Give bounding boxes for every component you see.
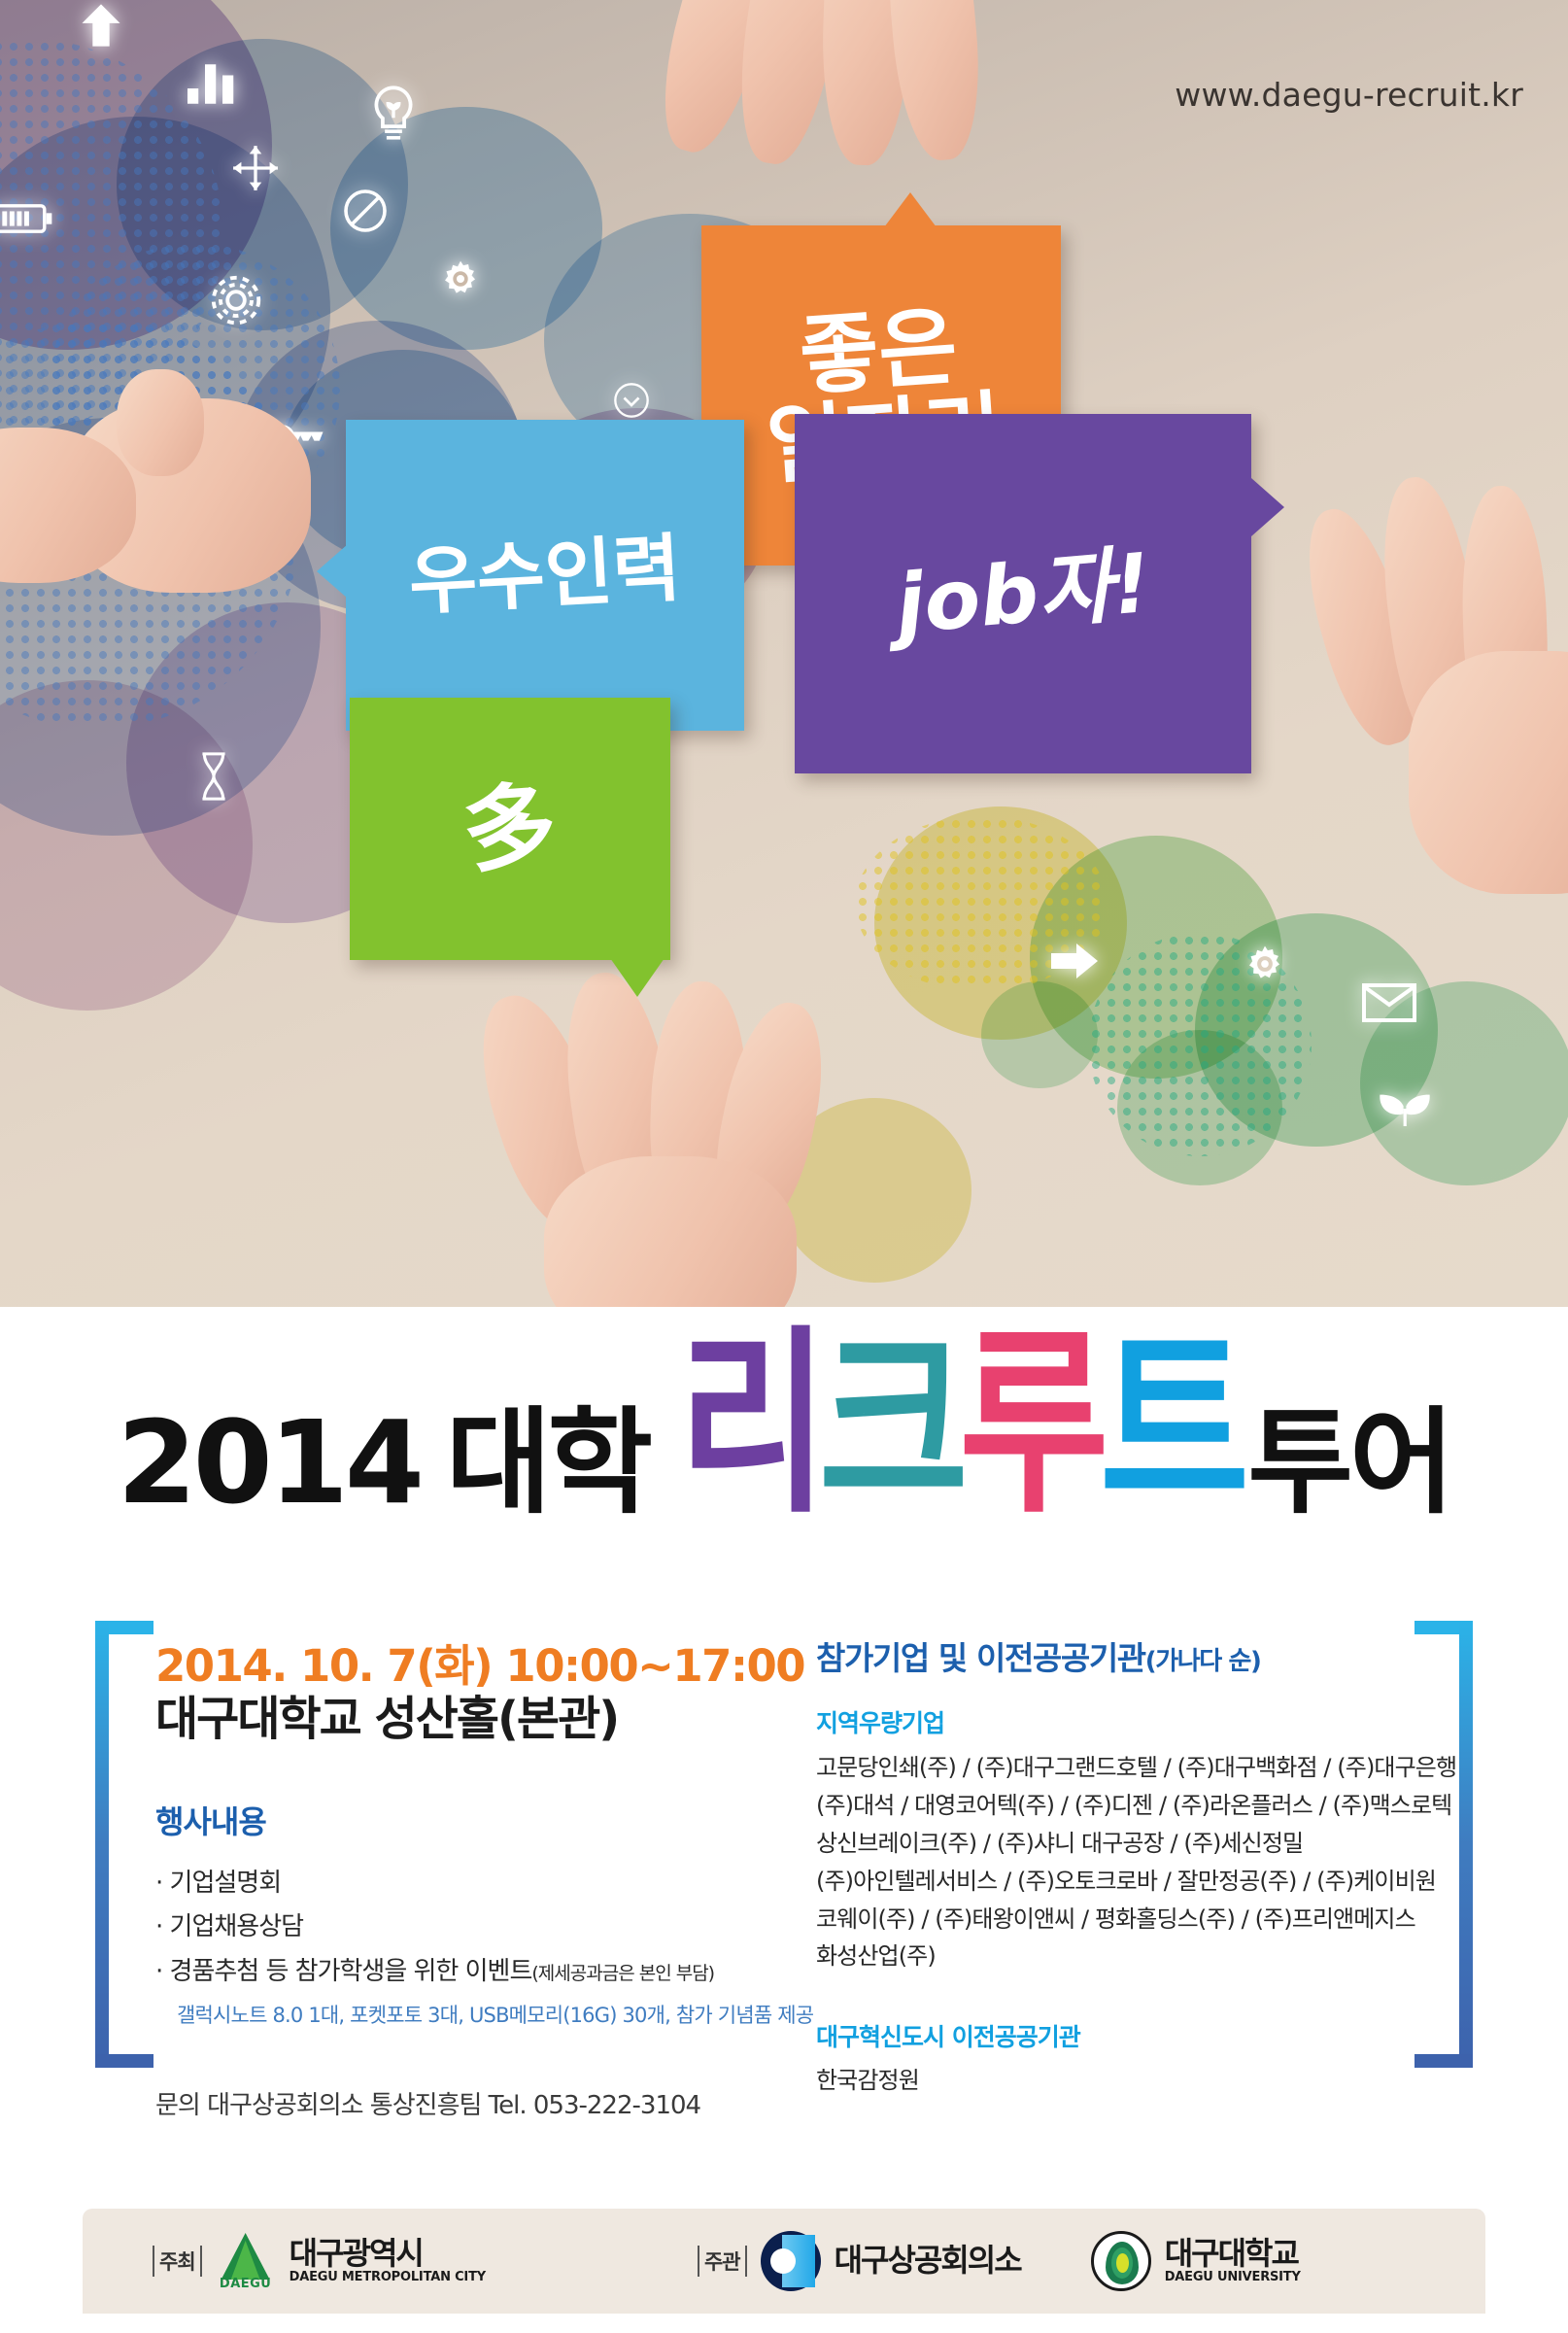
host-name: 대구광역시 DAEGU METROPOLITAN CITY	[290, 2238, 486, 2283]
public-institutions-heading: 대구혁신도시 이전공공기관	[816, 2018, 1418, 2053]
organizer-label: 주관	[698, 2246, 747, 2277]
poster-title: 2014 대학 리 크 루 트 투어	[0, 1360, 1568, 1524]
daegu-university-logo-icon	[1091, 2231, 1151, 2291]
title-logo-teu: 트	[1100, 1324, 1241, 1524]
move-arrows-icon	[231, 144, 280, 192]
chevron-down-icon	[612, 381, 651, 420]
organizer-group: 주관 대구상공회의소	[698, 2231, 1021, 2291]
title-logo-ri: 리	[678, 1324, 819, 1524]
hand-right	[1263, 457, 1568, 875]
company-line: 화성산업(주)	[816, 1938, 1418, 1975]
program-item: · 기업설명회	[155, 1862, 777, 1906]
bracket-top-right-stem	[1459, 1621, 1473, 1844]
program-item-text: · 경품추첨 등 참가학생을 위한 이벤트	[155, 1957, 531, 1986]
event-details-column: 2014. 10. 7(화) 10:00~17:00 대구대학교 성산홀(본관)…	[155, 1642, 777, 2121]
title-logo-keu: 크	[819, 1324, 960, 1524]
program-item: · 기업채용상담	[155, 1905, 777, 1950]
hero-banner: 좋은 일자리 우수인력 job자! 多 www.daegu-recruit.kr	[0, 0, 1568, 1307]
bubble-tail-blue	[317, 544, 348, 599]
host-name-en: DAEGU METROPOLITAN CITY	[290, 2271, 486, 2284]
decor-blob	[981, 981, 1098, 1088]
hourglass-icon	[194, 750, 233, 803]
lightbulb-icon	[366, 86, 421, 146]
university-name: 대구대학교 DAEGU UNIVERSITY	[1165, 2238, 1301, 2283]
program-item-text: · 기업설명회	[155, 1869, 281, 1898]
envelope-icon	[1362, 983, 1416, 1022]
arrow-right-icon	[1049, 941, 1100, 981]
program-item-note: (제세공과금은 본인 부담)	[531, 1963, 714, 1984]
company-line: (주)대석 / 대영코어텍(주) / (주)디젠 / (주)라온플러스 / (주…	[816, 1787, 1418, 1825]
participants-column: 참가기업 및 이전공공기관(가나다 순) 지역우량기업 고문당인쇄(주) / (…	[816, 1632, 1418, 2095]
participants-heading: 참가기업 및 이전공공기관(가나다 순)	[816, 1632, 1418, 1679]
bubble-excellent-talent: 우수인력	[346, 420, 744, 731]
event-date: 2014. 10. 7(화) 10:00~17:00	[155, 1642, 777, 1691]
public-institution-item: 한국감정원	[816, 2061, 1418, 2095]
local-companies-heading: 지역우량기업	[816, 1704, 1418, 1739]
organizer-name-ko: 대구상공회의소	[835, 2245, 1021, 2278]
title-univ: 대학	[446, 1405, 649, 1524]
daegu-logo-word: DAEGU	[220, 2277, 272, 2291]
arrow-up-icon	[76, 0, 126, 51]
info-panel: 2014. 10. 7(화) 10:00~17:00 대구대학교 성산홀(본관)…	[0, 1594, 1568, 2177]
bubble-tail-purple	[1251, 478, 1284, 536]
title-year: 2014	[118, 1405, 421, 1524]
daegu-city-logo-icon: DAEGU	[216, 2231, 276, 2291]
leaf-icon	[1378, 1083, 1432, 1128]
host-group: 주최 DAEGU 대구광역시 DAEGU METROPOLITAN CITY	[153, 2231, 486, 2291]
bar-chart-icon	[185, 53, 243, 106]
bubble-many-label: 多	[460, 779, 560, 878]
university-name-en: DAEGU UNIVERSITY	[1165, 2271, 1301, 2284]
title-tail: 투어	[1247, 1405, 1450, 1524]
bubble-job-ja: job자!	[795, 414, 1251, 773]
bracket-bottom-right-stem	[1459, 1844, 1473, 2068]
bracket-bottom-left-arm	[95, 2054, 153, 2068]
program-item-text: · 기업채용상담	[155, 1912, 303, 1941]
program-item: · 경품추첨 등 참가학생을 위한 이벤트(제세공과금은 본인 부담)	[155, 1950, 777, 1995]
contact-line: 문의 대구상공회의소 통상진흥팀 Tel. 053-222-3104	[155, 2085, 777, 2121]
gear-small-icon	[439, 257, 482, 300]
bubble-excellent-talent-label: 우수인력	[407, 532, 682, 620]
participants-heading-text: 참가기업 및 이전공공기관	[816, 1639, 1145, 1677]
organizer-name: 대구상공회의소	[835, 2245, 1021, 2278]
event-place: 대구대학교 성산홀(본관)	[155, 1693, 777, 1746]
host-name-ko: 대구광역시	[290, 2238, 486, 2271]
site-url-link[interactable]: www.daegu-recruit.kr	[1175, 76, 1523, 114]
hand-bottom	[418, 981, 874, 1307]
no-entry-icon	[342, 188, 389, 234]
program-list: · 기업설명회 · 기업채용상담 · 경품추첨 등 참가학생을 위한 이벤트(제…	[155, 1862, 777, 2030]
bubble-tail-orange	[881, 192, 939, 231]
program-heading: 행사내용	[155, 1798, 777, 1842]
bracket-bottom-left-stem	[95, 1844, 109, 2068]
chamber-of-commerce-logo-icon	[761, 2231, 821, 2291]
bracket-bottom-right-arm	[1415, 2054, 1473, 2068]
host-label: 주최	[153, 2246, 202, 2277]
bracket-top-left-stem	[95, 1621, 109, 1844]
hand-left-fist	[0, 340, 340, 632]
bubble-tail-green	[610, 958, 665, 997]
title-logo-ru: 루	[959, 1324, 1100, 1524]
company-line: 코웨이(주) / (주)태왕이앤씨 / 평화홀딩스(주) / (주)프리앤메지스	[816, 1901, 1418, 1938]
hand-top-right	[641, 0, 1010, 262]
sponsor-footer: 주최 DAEGU 대구광역시 DAEGU METROPOLITAN CITY 주…	[83, 2209, 1485, 2314]
gear-icon	[1244, 943, 1286, 985]
participants-heading-suffix: (가나다 순)	[1145, 1647, 1261, 1676]
bubble-many: 多	[350, 698, 670, 960]
company-list: 고문당인쇄(주) / (주)대구그랜드호텔 / (주)대구백화점 / (주)대구…	[816, 1749, 1418, 1975]
company-line: 고문당인쇄(주) / (주)대구그랜드호텔 / (주)대구백화점 / (주)대구…	[816, 1749, 1418, 1787]
university-group: 대구대학교 DAEGU UNIVERSITY	[1091, 2231, 1301, 2291]
prize-note: 갤럭시노트 8.0 1대, 포켓포토 3대, USB메모리(16G) 30개, …	[155, 2000, 777, 2029]
company-line: (주)아인텔레서비스 / (주)오토크로바 / 잘만정공(주) / (주)케이비…	[816, 1863, 1418, 1901]
company-line: 상신브레이크(주) / (주)샤니 대구공장 / (주)세신정밀	[816, 1825, 1418, 1863]
university-name-ko: 대구대학교	[1165, 2238, 1301, 2271]
bubble-job-ja-label: job자!	[893, 542, 1154, 646]
battery-icon	[0, 202, 54, 235]
gear-icon	[206, 270, 266, 330]
